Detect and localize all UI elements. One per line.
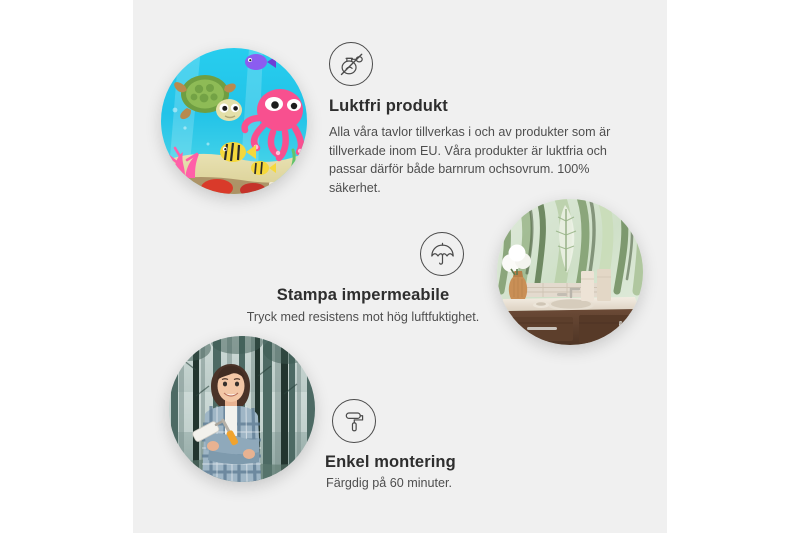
feature-body: Färgdig på 60 minuter.	[326, 476, 623, 490]
woman-paint-roller-illustration	[169, 336, 315, 482]
feature-stampa-impermeabile: Stampa impermeabile Tryck med resistens …	[191, 232, 535, 324]
paint-roller-icon	[332, 399, 376, 443]
no-fragrance-icon	[329, 42, 373, 86]
feature-luktfri-produkt: Luktfri produkt Alla våra tavlor tillver…	[329, 42, 629, 197]
woman-paint-roller-photo	[169, 336, 315, 482]
underwater-cartoon-illustration	[161, 48, 307, 194]
feature-body: Alla våra tavlor tillverkas i och av pro…	[329, 123, 629, 197]
underwater-cartoon-photo	[161, 48, 307, 194]
content-canvas: Luktfri produkt Alla våra tavlor tillver…	[133, 0, 667, 533]
feature-title: Luktfri produkt	[329, 97, 629, 116]
feature-body: Tryck med resistens mot hög luftfuktighe…	[191, 310, 535, 324]
umbrella-icon	[420, 232, 464, 276]
feature-title: Enkel montering	[325, 453, 623, 472]
feature-enkel-montering: Enkel montering Färgdig på 60 minuter.	[323, 399, 623, 490]
feature-title: Stampa impermeabile	[191, 286, 535, 305]
promo-infographic: Luktfri produkt Alla våra tavlor tillver…	[0, 0, 800, 533]
